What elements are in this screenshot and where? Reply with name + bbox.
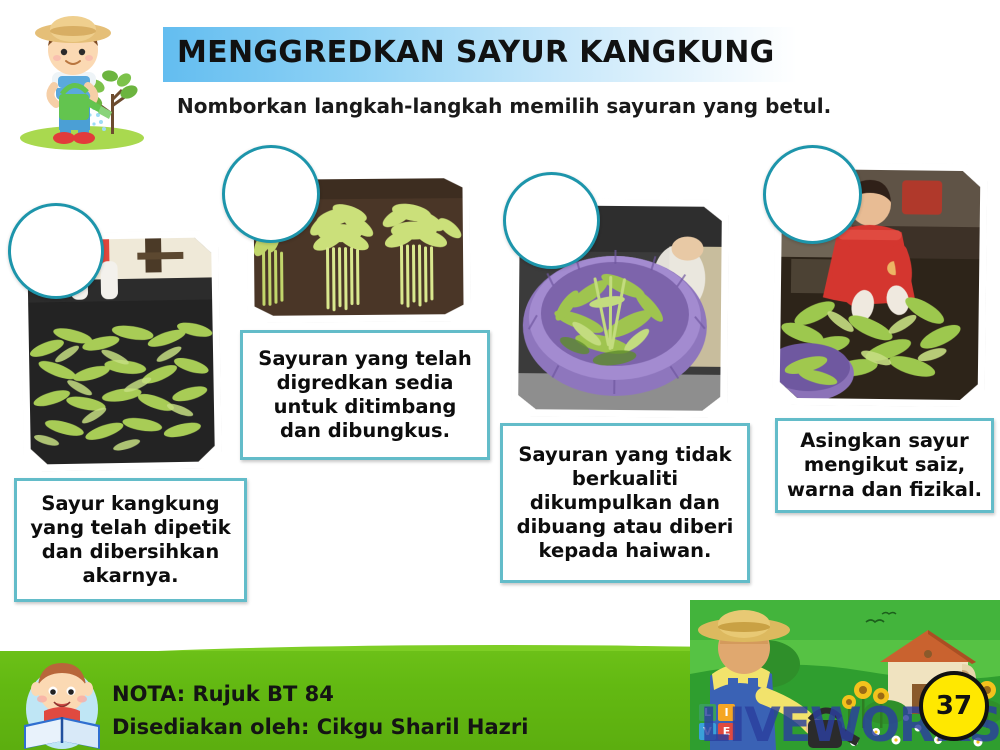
caption-box-1: Sayur kangkung yang telah dipetik dan di… [14, 478, 247, 602]
answer-circle-4[interactable] [763, 145, 862, 244]
caption-box-2: Sayuran yang telah digredkan sedia untuk… [240, 330, 490, 460]
instruction-text: Nomborkan langkah-langkah memilih sayura… [177, 94, 831, 118]
footer-nota: NOTA: Rujuk BT 84 [112, 682, 334, 706]
answer-circle-2[interactable] [222, 145, 320, 243]
answer-circle-3[interactable] [503, 172, 600, 269]
caption-box-3: Sayuran yang tidak berkualiti dikumpulka… [500, 423, 750, 583]
footer-prepared-by: Disediakan oleh: Cikgu Sharil Hazri [112, 715, 528, 739]
boy-watering-tree-illustration [2, 2, 162, 152]
page-title: MENGGREDKAN SAYUR KANGKUNG [177, 35, 817, 70]
page-number-badge: 37 [919, 671, 989, 741]
answer-circle-1[interactable] [8, 203, 104, 299]
worksheet-page: MENGGREDKAN SAYUR KANGKUNG Nomborkan lan… [0, 0, 1000, 750]
boy-reading-illustration [18, 655, 106, 750]
caption-box-4: Asingkan sayur mengikut saiz, warna dan … [775, 418, 994, 513]
